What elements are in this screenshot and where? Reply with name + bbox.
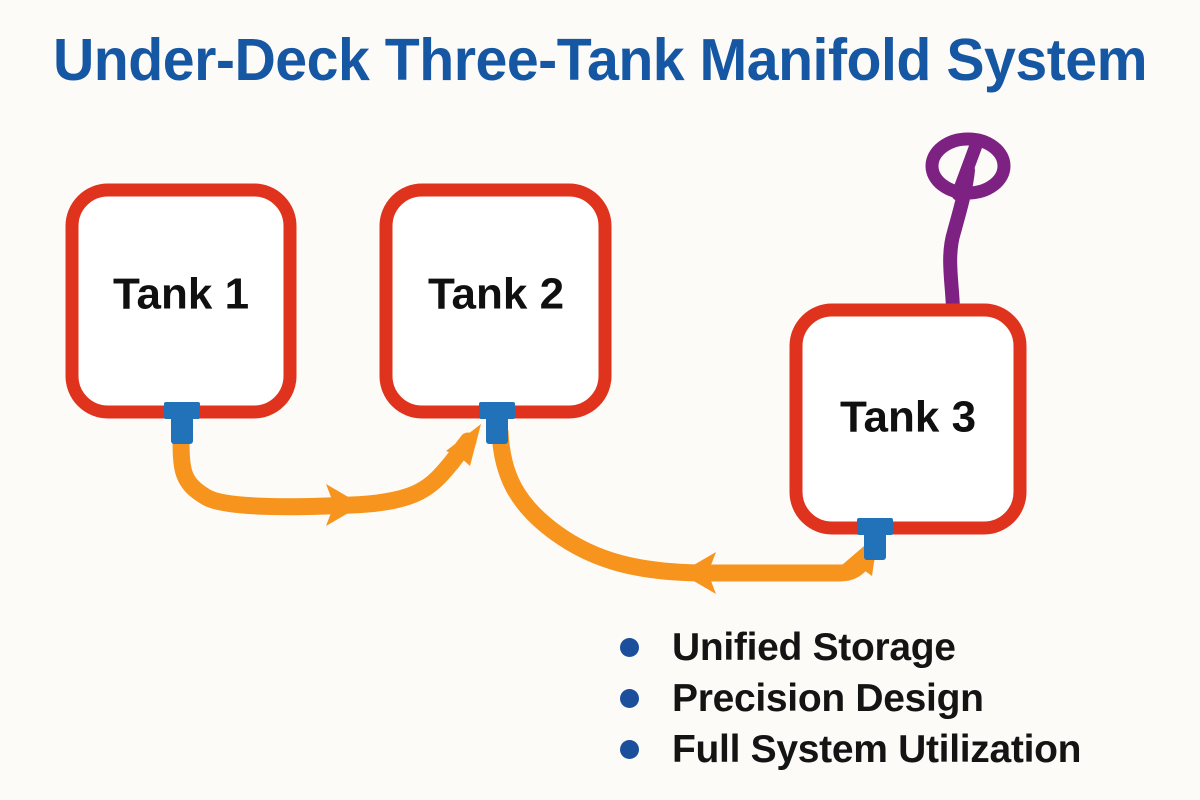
pipe-tank1-to-tank2 — [181, 424, 481, 526]
tank-1-label: Tank 1 — [113, 270, 249, 319]
feature-label: Unified Storage — [672, 626, 956, 670]
pipe-path-1 — [181, 432, 468, 507]
tank-2-label: Tank 2 — [428, 270, 564, 319]
feature-label: Precision Design — [672, 677, 984, 721]
list-item: Unified Storage — [620, 622, 1140, 673]
valve-tank-2[interactable] — [479, 402, 515, 444]
list-item: Precision Design — [620, 673, 1140, 724]
tank-3[interactable]: Tank 3 — [796, 310, 1020, 528]
valve-tank-1-stem-icon — [171, 402, 193, 444]
tank-2[interactable]: Tank 2 — [386, 190, 605, 412]
bullet-icon — [620, 638, 639, 657]
vent-tank-3 — [932, 139, 1004, 312]
valve-tank-3-stem-icon — [864, 518, 886, 560]
tank-3-label: Tank 3 — [840, 393, 976, 442]
feature-label: Full System Utilization — [672, 728, 1081, 772]
bullet-icon — [620, 740, 639, 759]
tank-1[interactable]: Tank 1 — [72, 190, 290, 412]
list-item: Full System Utilization — [620, 724, 1140, 775]
feature-list: Unified Storage Precision Design Full Sy… — [620, 622, 1140, 775]
slide-canvas: Under-Deck Three-Tank Manifold System — [0, 0, 1200, 800]
bullet-icon — [620, 689, 639, 708]
valve-tank-1[interactable] — [164, 402, 200, 444]
valve-tank-2-stem-icon — [486, 402, 508, 444]
